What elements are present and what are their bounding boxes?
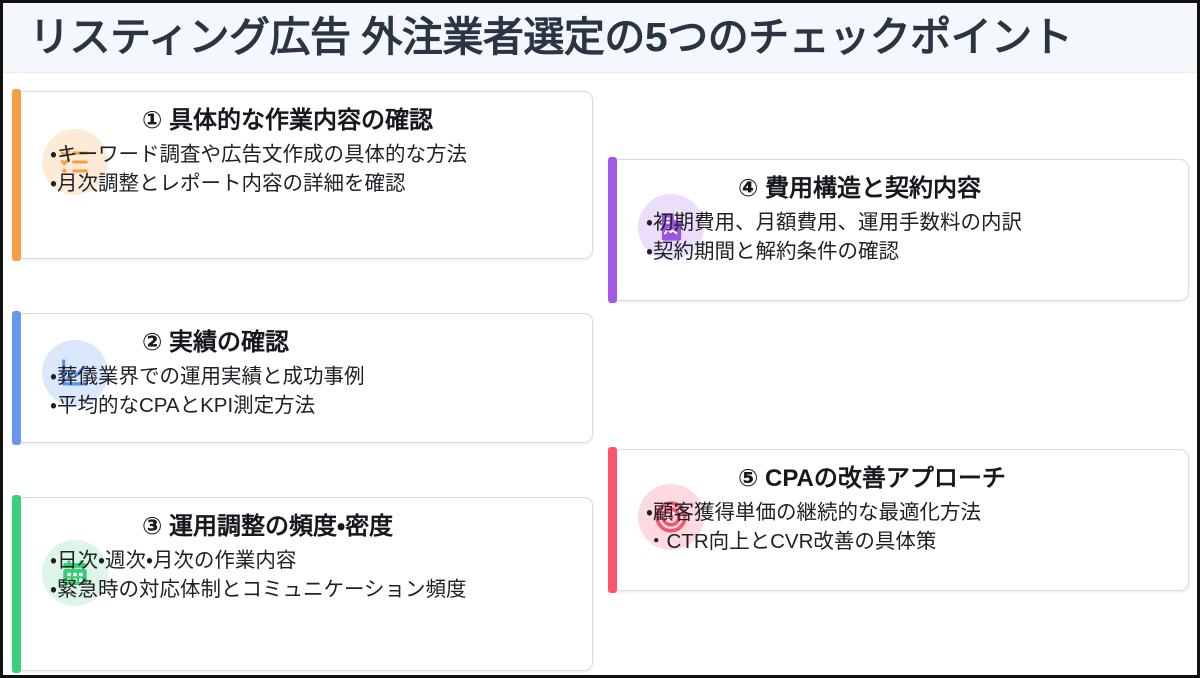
card-heading-2: ② 実績の確認 bbox=[142, 328, 576, 357]
checkpoint-card-4: ④ 費用構造と契約内容 ・初期費用、月額費用、運用手数料の内訳 ・契約期間と解約… bbox=[611, 159, 1189, 301]
bullet-text: ・葬儀業界での運用実績と成功事例 bbox=[50, 365, 364, 388]
bullet-text: ・CTR向上とCVR改善の具体策 bbox=[646, 530, 936, 553]
list-item: ・緊急時の対応体制とコミュニケーション頻度 bbox=[50, 575, 520, 604]
checkpoint-card-1: ① 具体的な作業内容の確認 ・キーワード調査や広告文作成の具体的な方法 ・月次調… bbox=[15, 91, 593, 259]
list-item: ・平均的なCPAとKPI測定方法 bbox=[50, 391, 520, 420]
bullet-text: ・月次調整とレポート内容の詳細を確認 bbox=[50, 172, 405, 195]
bullet-text: ・緊急時の対応体制とコミュニケーション頻度 bbox=[50, 578, 467, 601]
card-bullets-5: ・顧客獲得単価の継続的な最適化方法 ・CTR向上とCVR改善の具体策 bbox=[738, 498, 1172, 556]
card-body-2: ② 実績の確認 ・葬儀業界での運用実績と成功事例 ・平均的なCPAとKPI測定方… bbox=[142, 328, 576, 420]
card-accent-bar-2 bbox=[12, 311, 21, 445]
checkpoint-card-3: ③ 運用調整の頻度・密度 ・日次・週次・月次の作業内容 ・緊急時の対応体制とコミ… bbox=[15, 497, 593, 671]
checkpoint-card-5: ⑤ CPAの改善アプローチ ・顧客獲得単価の継続的な最適化方法 ・CTR向上とC… bbox=[611, 449, 1189, 591]
list-item: ・日次・週次・月次の作業内容 bbox=[50, 546, 520, 575]
card-bullets-1: ・キーワード調査や広告文作成の具体的な方法 ・月次調整とレポート内容の詳細を確認 bbox=[142, 140, 576, 198]
right-column: ④ 費用構造と契約内容 ・初期費用、月額費用、運用手数料の内訳 ・契約期間と解約… bbox=[611, 73, 1189, 675]
bullet-text: ・平均的なCPAとKPI測定方法 bbox=[50, 394, 315, 417]
card-accent-bar-4 bbox=[608, 157, 617, 303]
page-title: リスティング広告 外注業者選定の5つのチェックポイント bbox=[29, 17, 1072, 58]
bullet-text: ・初期費用、月額費用、運用手数料の内訳 bbox=[646, 211, 1022, 234]
infographic-slide: リスティング広告 外注業者選定の5つのチェックポイント bbox=[0, 0, 1200, 678]
list-item: ・契約期間と解約条件の確認 bbox=[646, 237, 1116, 266]
list-item: ・葬儀業界での運用実績と成功事例 bbox=[50, 362, 520, 391]
card-accent-bar-5 bbox=[608, 447, 617, 593]
card-heading-1: ① 具体的な作業内容の確認 bbox=[142, 106, 576, 135]
card-body-5: ⑤ CPAの改善アプローチ ・顧客獲得単価の継続的な最適化方法 ・CTR向上とC… bbox=[738, 464, 1172, 556]
left-column: ① 具体的な作業内容の確認 ・キーワード調査や広告文作成の具体的な方法 ・月次調… bbox=[15, 73, 599, 675]
card-bullets-2: ・葬儀業界での運用実績と成功事例 ・平均的なCPAとKPI測定方法 bbox=[142, 362, 576, 420]
list-item: ・顧客獲得単価の継続的な最適化方法 bbox=[646, 498, 1116, 527]
checkpoint-card-2: ② 実績の確認 ・葬儀業界での運用実績と成功事例 ・平均的なCPAとKPI測定方… bbox=[15, 313, 593, 443]
card-board: ① 具体的な作業内容の確認 ・キーワード調査や広告文作成の具体的な方法 ・月次調… bbox=[3, 73, 1197, 675]
list-item: ・月次調整とレポート内容の詳細を確認 bbox=[50, 169, 520, 198]
bullet-text: ・契約期間と解約条件の確認 bbox=[646, 240, 899, 263]
bullet-text: ・日次・週次・月次の作業内容 bbox=[50, 549, 296, 572]
list-item: ・CTR向上とCVR改善の具体策 bbox=[646, 527, 1116, 556]
card-body-1: ① 具体的な作業内容の確認 ・キーワード調査や広告文作成の具体的な方法 ・月次調… bbox=[142, 106, 576, 198]
card-heading-4: ④ 費用構造と契約内容 bbox=[738, 174, 1172, 203]
bullet-text: ・キーワード調査や広告文作成の具体的な方法 bbox=[50, 143, 467, 166]
card-heading-3: ③ 運用調整の頻度・密度 bbox=[142, 512, 576, 541]
card-bullets-4: ・初期費用、月額費用、運用手数料の内訳 ・契約期間と解約条件の確認 bbox=[738, 208, 1172, 266]
header-band: リスティング広告 外注業者選定の5つのチェックポイント bbox=[3, 3, 1197, 73]
card-accent-bar-3 bbox=[12, 495, 21, 673]
list-item: ・キーワード調査や広告文作成の具体的な方法 bbox=[50, 140, 520, 169]
card-body-4: ④ 費用構造と契約内容 ・初期費用、月額費用、運用手数料の内訳 ・契約期間と解約… bbox=[738, 174, 1172, 266]
card-accent-bar-1 bbox=[12, 89, 21, 261]
list-item: ・初期費用、月額費用、運用手数料の内訳 bbox=[646, 208, 1116, 237]
card-heading-5: ⑤ CPAの改善アプローチ bbox=[738, 464, 1172, 493]
bullet-text: ・顧客獲得単価の継続的な最適化方法 bbox=[646, 501, 981, 524]
card-body-3: ③ 運用調整の頻度・密度 ・日次・週次・月次の作業内容 ・緊急時の対応体制とコミ… bbox=[142, 512, 576, 604]
card-bullets-3: ・日次・週次・月次の作業内容 ・緊急時の対応体制とコミュニケーション頻度 bbox=[142, 546, 576, 604]
